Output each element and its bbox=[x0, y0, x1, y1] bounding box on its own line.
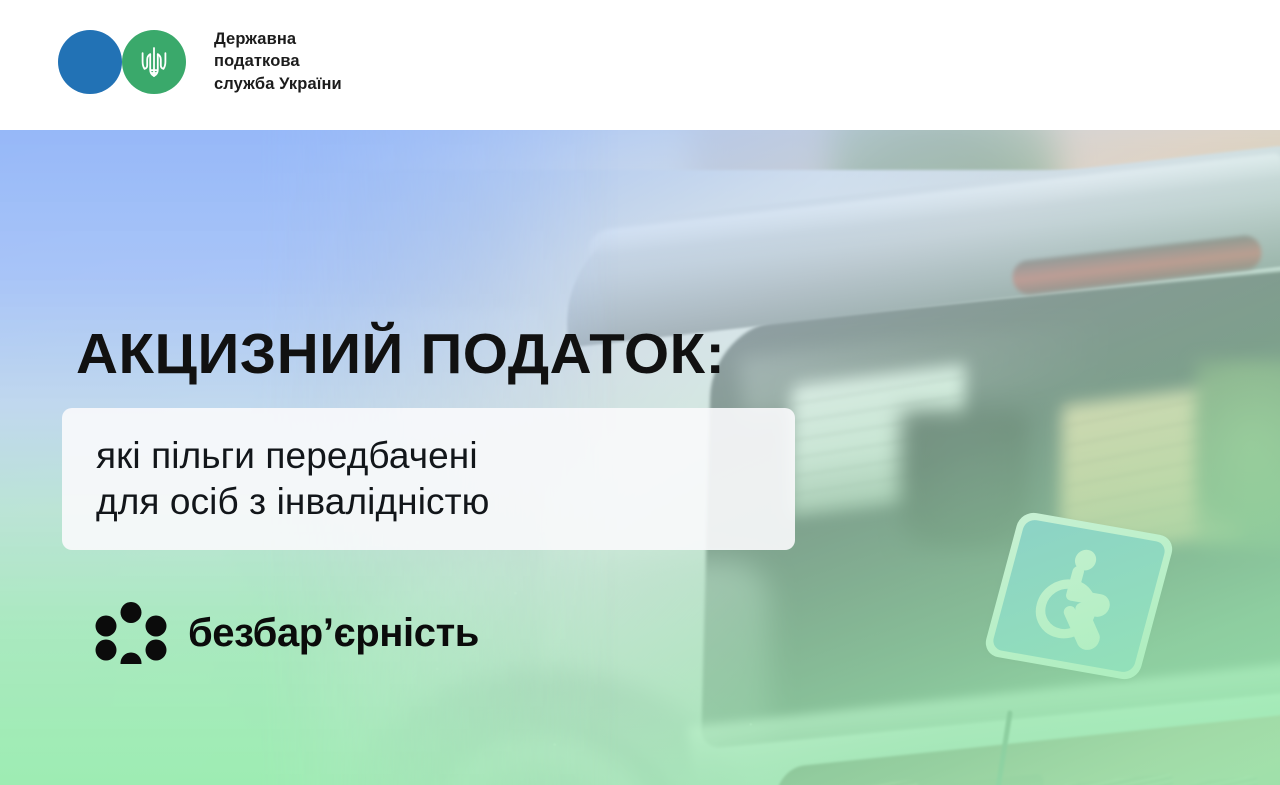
blue-circle-icon bbox=[58, 30, 122, 94]
barrier-free-logo: безбар’єрність bbox=[92, 602, 479, 664]
hero-content: АКЦИЗНИЙ ПОДАТОК: які пільги передбачені… bbox=[0, 130, 1280, 785]
tax-service-logo: Державна податкова служба України bbox=[58, 28, 342, 95]
six-dots-ring-icon bbox=[92, 602, 170, 664]
subtitle-panel: які пільги передбачені для осіб з інвалі… bbox=[62, 408, 795, 550]
page-title: АКЦИЗНИЙ ПОДАТОК: bbox=[76, 326, 725, 383]
header-bar: Державна податкова служба України bbox=[0, 0, 1280, 130]
organization-name: Державна податкова служба України bbox=[214, 28, 342, 95]
subtitle-text: які пільги передбачені для осіб з інвалі… bbox=[96, 433, 490, 526]
promo-banner: Державна податкова служба України bbox=[0, 0, 1280, 785]
barrier-free-wordmark: безбар’єрність bbox=[188, 613, 479, 653]
green-circle-trident-icon bbox=[122, 30, 186, 94]
hero-photo-stage: АКЦИЗНИЙ ПОДАТОК: які пільги передбачені… bbox=[0, 130, 1280, 785]
